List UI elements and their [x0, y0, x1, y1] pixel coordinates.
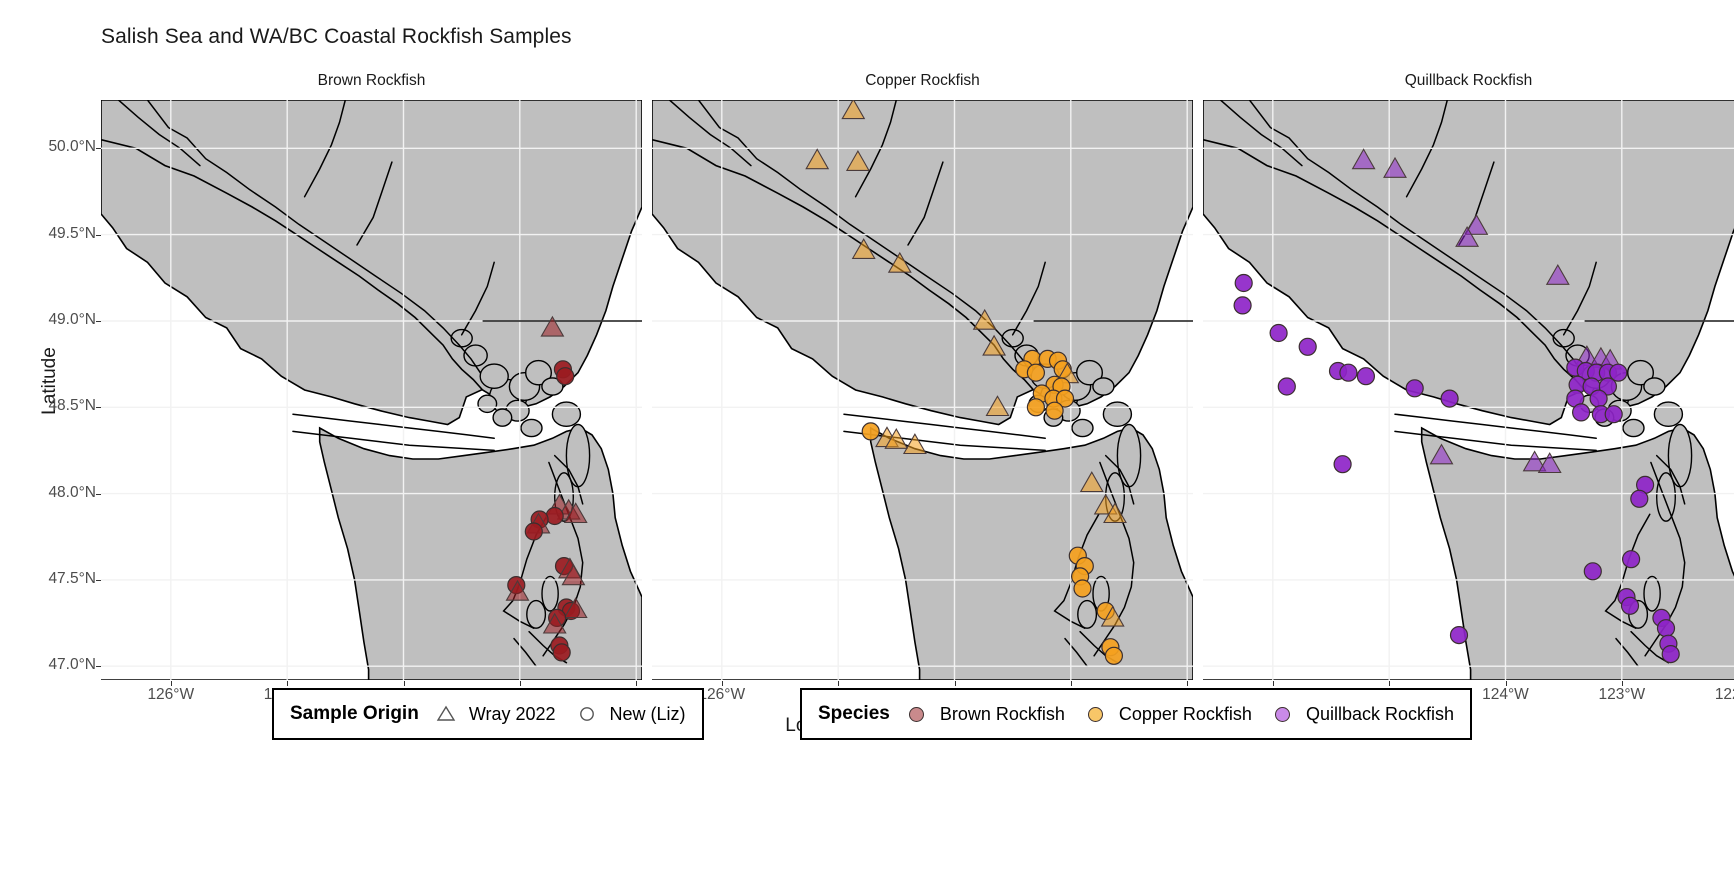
x-tick-mark: [287, 681, 288, 686]
x-tick-mark: [722, 681, 723, 686]
legend-item-label: New (Liz): [610, 704, 686, 725]
y-tick-label: 48.0°N: [6, 484, 96, 502]
circle-filled-icon: [904, 707, 930, 722]
y-tick-label: 50.0°N: [6, 138, 96, 156]
x-tick-mark: [636, 681, 637, 686]
y-tick-label: 48.5°N: [6, 397, 96, 415]
legend-species[interactable]: Species Brown Rockfish Copper Rockfish Q…: [800, 688, 1472, 740]
legend-sample-origin[interactable]: Sample Origin Wray 2022 New (Liz): [272, 688, 704, 740]
x-tick-mark: [1506, 681, 1507, 686]
facet-strip-quillback-rockfish: Quillback Rockfish: [1203, 68, 1734, 94]
x-tick-mark: [171, 681, 172, 686]
legend-item-label: Brown Rockfish: [940, 704, 1065, 725]
x-tick-mark: [404, 681, 405, 686]
x-tick-mark: [1187, 681, 1188, 686]
x-tick-mark: [955, 681, 956, 686]
legend-item[interactable]: Quillback Rockfish: [1270, 704, 1454, 725]
y-tick-label: 49.5°N: [6, 225, 96, 243]
x-tick-mark: [1389, 681, 1390, 686]
x-tick-label: 123°W: [1577, 686, 1667, 704]
x-tick-mark: [838, 681, 839, 686]
y-tick-label: 47.5°N: [6, 570, 96, 588]
x-tick-label: 124°W: [1460, 686, 1550, 704]
x-tick-mark: [520, 681, 521, 686]
y-axis-title: Latitude: [39, 321, 61, 441]
y-tick-label: 49.0°N: [6, 311, 96, 329]
x-tick-mark: [1273, 681, 1274, 686]
circle-open-icon: [574, 705, 600, 723]
legend-item[interactable]: New (Liz): [574, 704, 686, 725]
triangle-open-icon: [433, 705, 459, 723]
legend-title: Species: [818, 703, 890, 725]
legend-item-label: Copper Rockfish: [1119, 704, 1252, 725]
legend-item[interactable]: Copper Rockfish: [1083, 704, 1252, 725]
legend-item[interactable]: Wray 2022: [433, 704, 556, 725]
circle-filled-icon: [1083, 707, 1109, 722]
facet-panel-brown-rockfish: [101, 100, 642, 680]
x-tick-label: 122°W: [1693, 686, 1734, 704]
circle-filled-icon: [1270, 707, 1296, 722]
facet-panel-quillback-rockfish: [1203, 100, 1734, 680]
legend-title: Sample Origin: [290, 703, 419, 725]
legend-item-label: Quillback Rockfish: [1306, 704, 1454, 725]
legend-item-label: Wray 2022: [469, 704, 556, 725]
page-title: Salish Sea and WA/BC Coastal Rockfish Sa…: [101, 25, 572, 49]
facet-panel-copper-rockfish: [652, 100, 1193, 680]
x-tick-label: 126°W: [126, 686, 216, 704]
y-tick-label: 47.0°N: [6, 656, 96, 674]
x-tick-mark: [1622, 681, 1623, 686]
x-tick-mark: [1071, 681, 1072, 686]
facet-strip-copper-rockfish: Copper Rockfish: [652, 68, 1193, 94]
legend-item[interactable]: Brown Rockfish: [904, 704, 1065, 725]
facet-strip-brown-rockfish: Brown Rockfish: [101, 68, 642, 94]
rockfish-sample-map-figure: Salish Sea and WA/BC Coastal Rockfish Sa…: [0, 0, 1734, 870]
